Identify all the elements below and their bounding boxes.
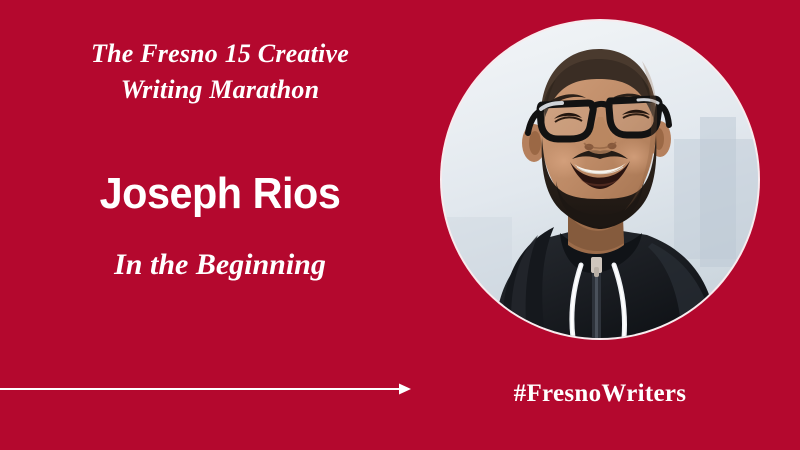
arrow-right-rule: [0, 380, 412, 398]
presentation-slide: The Fresno 15 Creative Writing Marathon …: [0, 0, 800, 450]
speaker-name: Joseph Rios: [13, 170, 427, 218]
text-column: The Fresno 15 Creative Writing Marathon …: [0, 0, 440, 450]
speaker-portrait: [442, 21, 758, 338]
event-title-line-1: The Fresno 15 Creative: [0, 36, 440, 72]
hashtag: #FresnoWriters: [440, 379, 760, 409]
event-title: The Fresno 15 Creative Writing Marathon: [0, 36, 440, 108]
event-title-line-2: Writing Marathon: [0, 72, 440, 108]
talk-title: In the Beginning: [0, 246, 440, 284]
